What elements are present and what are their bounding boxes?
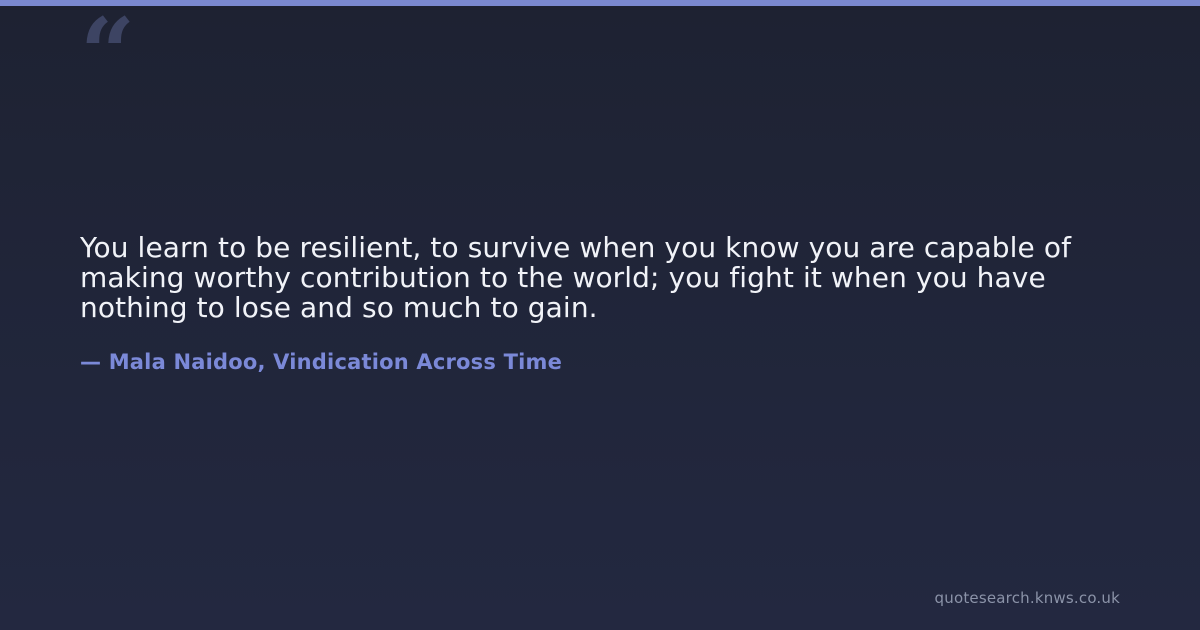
open-quote-icon: “ bbox=[80, 6, 133, 102]
footer: quotesearch.knws.co.uk bbox=[935, 588, 1120, 608]
quote-attribution: — Mala Naidoo, Vindication Across Time bbox=[80, 348, 562, 376]
site-url: quotesearch.knws.co.uk bbox=[935, 588, 1120, 608]
quote-content: “ You learn to be resilient, to survive … bbox=[80, 0, 1120, 630]
quote-card: “ You learn to be resilient, to survive … bbox=[0, 0, 1200, 630]
quote-body: You learn to be resilient, to survive wh… bbox=[80, 233, 1112, 323]
quote-text: You learn to be resilient, to survive wh… bbox=[80, 233, 1112, 323]
